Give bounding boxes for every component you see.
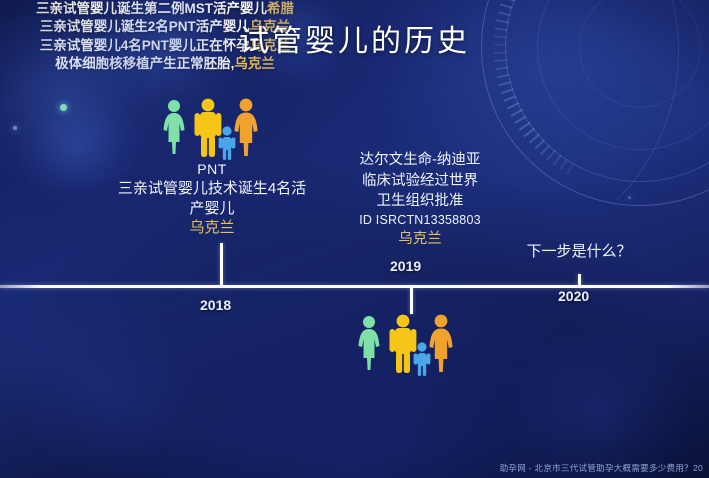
family-icon-group-2018 xyxy=(160,98,266,165)
timeline-axis xyxy=(0,285,709,288)
family-icon-group-2019 xyxy=(355,314,461,381)
bg-glow-blob xyxy=(501,330,701,478)
achievement-country: 希腊 xyxy=(267,1,294,16)
darwin-text-block: 达尔文生命-纳迪亚 临床试验经过世界 卫生组织批准 ID ISRCTN13358… xyxy=(330,150,510,250)
pnt-line-2: 产婴儿 xyxy=(98,199,326,219)
pnt-text-block: PNT 三亲试管婴儿技术诞生4名活 产婴儿 乌克兰 xyxy=(98,160,326,238)
darwin-line-3: 卫生组织批准 xyxy=(330,191,510,212)
watermark-text: 助孕网 - 北京市三代试管助孕大概需要多少费用？20 xyxy=(500,462,703,474)
pnt-line-1: 三亲试管婴儿技术诞生4名活 xyxy=(98,179,326,199)
timeline-tick-2018 xyxy=(220,243,223,287)
bg-accent-dot xyxy=(60,104,67,111)
timeline-year-2019: 2019 xyxy=(390,258,421,274)
timeline-year-2020: 2020 xyxy=(558,288,589,304)
darwin-line-1: 达尔文生命-纳迪亚 xyxy=(330,150,510,171)
family-four-figures-icon xyxy=(160,98,266,160)
pnt-heading: PNT xyxy=(98,160,326,179)
darwin-country: 乌克兰 xyxy=(330,229,510,250)
darwin-trial-id: ID ISRCTN13358803 xyxy=(330,212,510,230)
next-step-label: 下一步是什么？ xyxy=(504,242,654,262)
family-four-figures-icon xyxy=(355,314,461,376)
bg-accent-dot xyxy=(628,196,631,199)
woman-figure-orange xyxy=(429,315,452,372)
pnt-country: 乌克兰 xyxy=(98,218,326,238)
woman-figure-orange xyxy=(234,99,257,156)
bg-accent-dot xyxy=(13,126,17,130)
timeline-tick-2019 xyxy=(410,286,413,314)
page-title: 试管婴儿的历史 xyxy=(0,16,709,60)
woman-figure-green xyxy=(164,100,185,154)
timeline-year-2018: 2018 xyxy=(200,297,231,313)
bg-glow-blob xyxy=(0,300,200,470)
next-step-text: 下一步是什么？ xyxy=(504,242,654,262)
man-figure-yellow xyxy=(390,315,417,373)
slide-root: 试管婴儿的历史 xyxy=(0,0,709,478)
darwin-line-2: 临床试验经过世界 xyxy=(330,171,510,192)
timeline-tick-2020 xyxy=(578,274,581,287)
man-figure-yellow xyxy=(195,99,222,157)
woman-figure-green xyxy=(359,316,380,370)
achievement-text: 三亲试管婴儿诞生第二例MST活产婴儿 xyxy=(36,1,267,16)
